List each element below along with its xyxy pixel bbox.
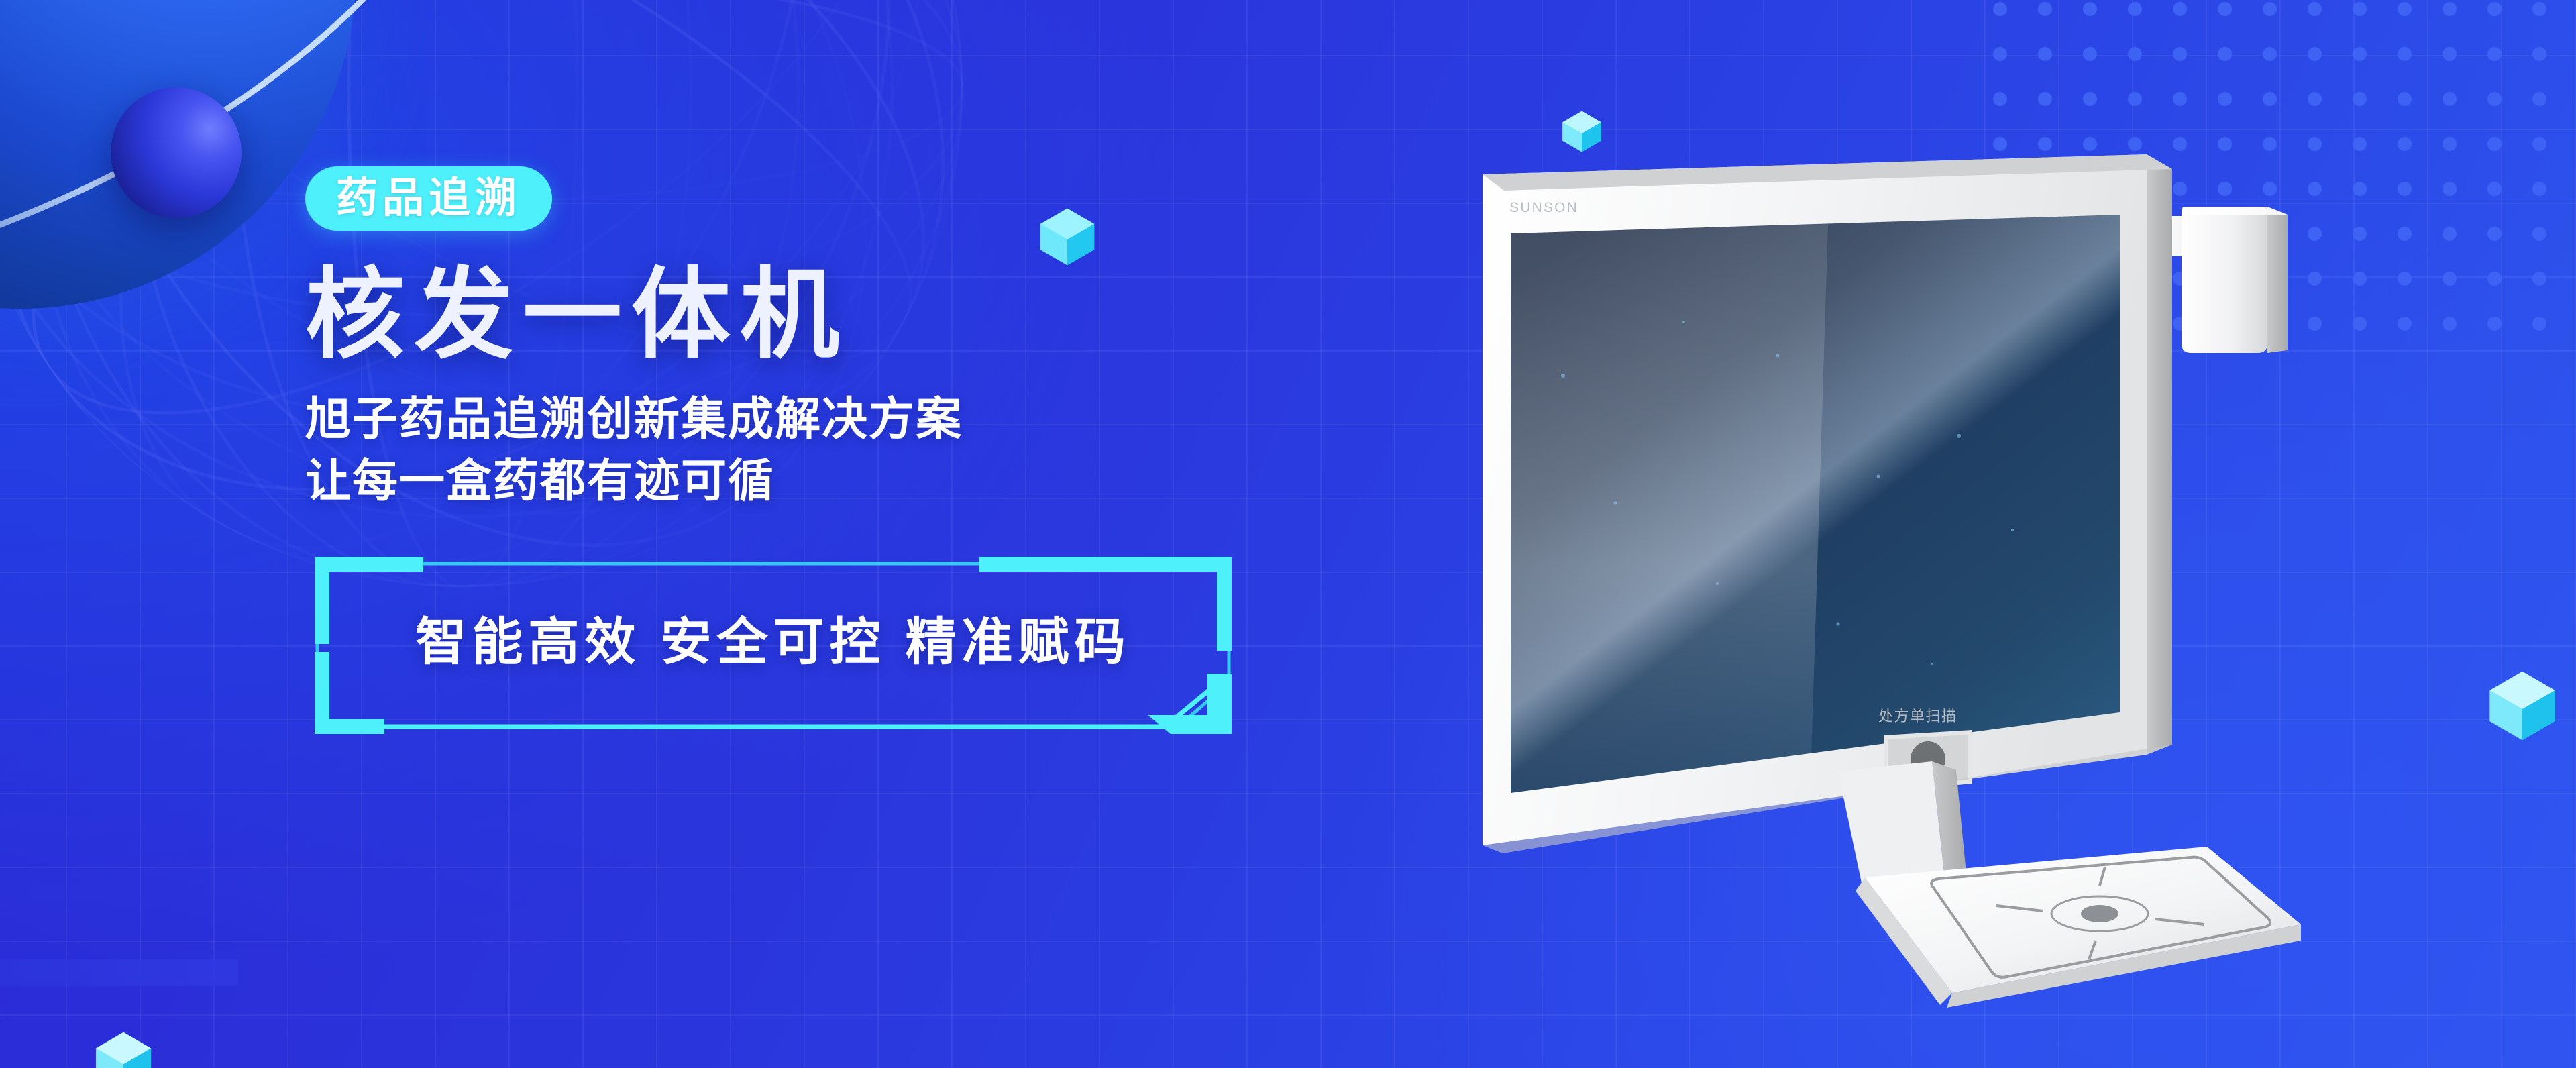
- category-badge: 药品追溯: [305, 166, 552, 231]
- subtitle-line-1: 旭子药品追溯创新集成解决方案: [305, 391, 1311, 449]
- sphere-icon-small: [111, 87, 241, 218]
- category-badge-label: 药品追溯: [336, 178, 521, 219]
- device-scan-label: 处方单扫描: [1878, 708, 1957, 725]
- copy-block: 药品追溯 核发一体机 旭子药品追溯创新集成解决方案 让每一盒药都有迹可循: [305, 166, 1311, 734]
- tagline-text: 智能高效 安全可控 精准赋码: [305, 617, 1241, 668]
- cube-icon-4: [87, 1025, 160, 1068]
- page-title: 核发一体机: [305, 263, 1311, 368]
- subtitle-line-2: 让每一盒药都有迹可循: [305, 453, 1311, 511]
- tagline-frame: 智能高效 安全可控 精准赋码: [305, 551, 1241, 734]
- sphere-icon-large: [0, 0, 356, 309]
- cube-icon-2: [1556, 106, 1607, 157]
- banner-root: 药品追溯 核发一体机 旭子药品追溯创新集成解决方案 让每一盒药都有迹可循: [0, 0, 2576, 1068]
- accent-bar: [0, 959, 238, 986]
- cube-icon-3: [2479, 663, 2565, 749]
- device-brand-label: SUNSON: [1509, 200, 1578, 215]
- product-device: SUNSON 处方单扫描: [1462, 154, 2334, 1020]
